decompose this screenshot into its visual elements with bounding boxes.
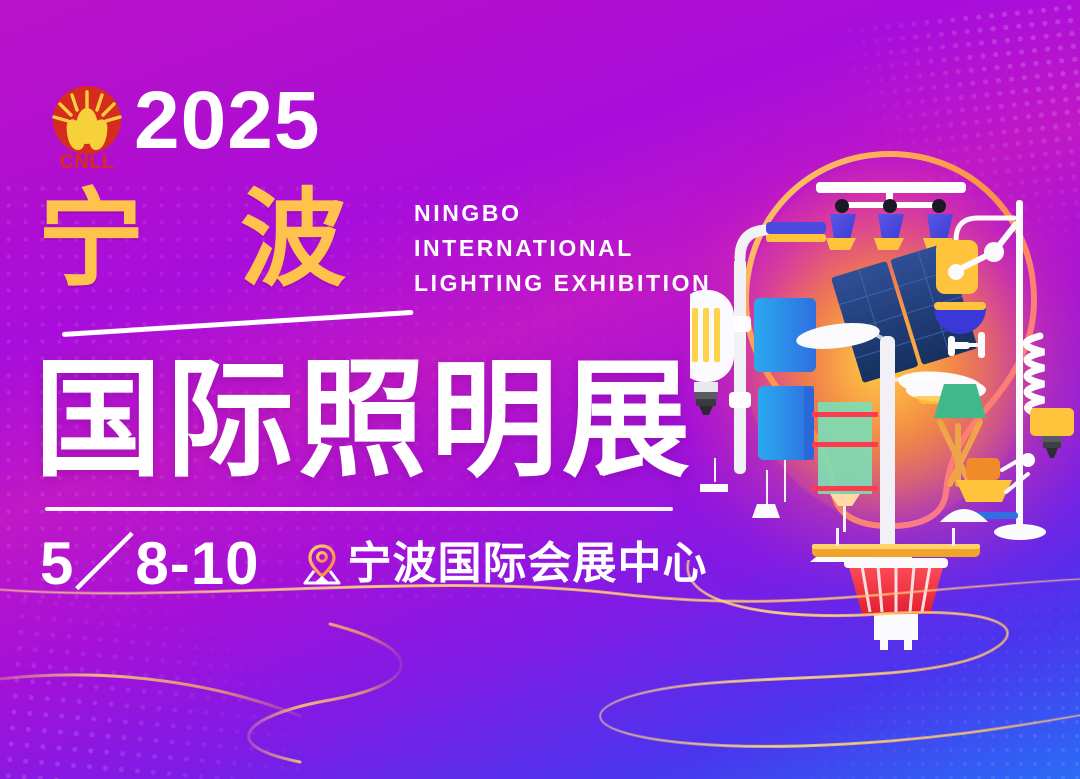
year-label: 2025: [134, 80, 320, 162]
exhibition-banner: CNLL 2025 宁波 NINGBO INTERNATIONAL LIGHTI…: [0, 0, 1080, 779]
page-title: 国际照明展: [34, 356, 694, 487]
industrial-stack-light: [810, 402, 880, 562]
english-line-2: INTERNATIONAL: [414, 231, 711, 266]
corn-led-bulb: [690, 290, 734, 415]
city-name-cn: 宁波: [38, 184, 442, 295]
orange-desk-lamp: [956, 453, 1035, 519]
cfl-spiral-bulb: [1026, 336, 1074, 458]
date-venue-row: 5／8-10 宁波国际会展中心: [40, 528, 707, 600]
event-date: 5／8-10: [40, 534, 259, 594]
track-light: [816, 182, 966, 250]
horizontal-divider: [45, 507, 673, 511]
english-line-3: LIGHTING EXHIBITION: [414, 266, 711, 301]
cnll-sun-logo-icon: CNLL: [44, 82, 130, 174]
logo-text: CNLL: [59, 151, 114, 173]
english-title: NINGBO INTERNATIONAL LIGHTING EXHIBITION: [414, 196, 711, 301]
location-pin-icon: [303, 543, 341, 585]
venue-name: 宁波国际会展中心: [347, 542, 707, 586]
english-line-1: NINGBO: [414, 196, 711, 231]
